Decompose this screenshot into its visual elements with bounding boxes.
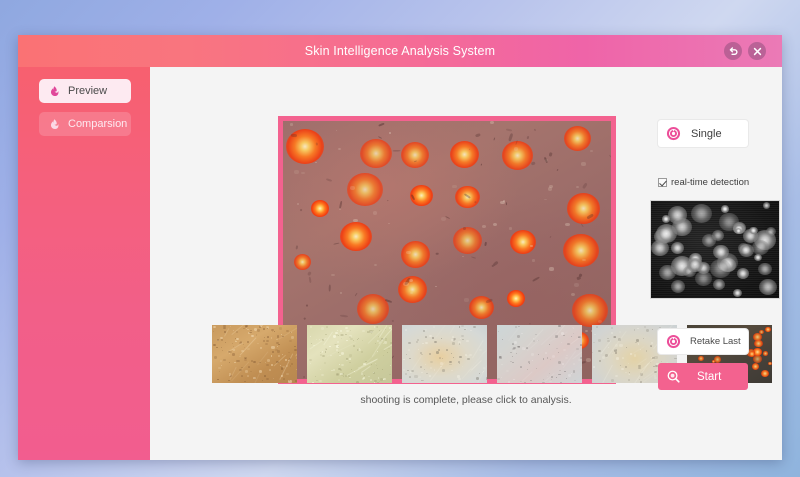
- realtime-detection-label: real-time detection: [671, 177, 749, 188]
- back-arrow-icon: [728, 46, 739, 57]
- start-label: Start: [697, 371, 721, 383]
- aperture-icon: [666, 334, 681, 349]
- page-title: Skin Intelligence Analysis System: [18, 35, 782, 67]
- thumbnail-3[interactable]: [402, 325, 487, 383]
- magnifier-icon: [666, 369, 681, 384]
- flame-icon: [48, 85, 61, 98]
- thumbnail-4[interactable]: [497, 325, 582, 383]
- right-control-panel: Single real-time detection: [650, 67, 782, 460]
- realtime-detection-checkbox[interactable]: [658, 178, 667, 187]
- detection-preview-image[interactable]: [650, 200, 780, 299]
- aperture-icon: [666, 126, 681, 141]
- title-bar: Skin Intelligence Analysis System: [18, 35, 782, 67]
- thumbnail-2[interactable]: [307, 325, 392, 383]
- sidebar-item-comparsion[interactable]: Comparsion: [39, 112, 131, 136]
- back-button[interactable]: [724, 42, 742, 60]
- thumbnail-1[interactable]: [212, 325, 297, 383]
- sidebar-item-label: Preview: [68, 85, 107, 97]
- sidebar-item-preview[interactable]: Preview: [39, 79, 131, 103]
- sidebar-item-label: Comparsion: [68, 118, 127, 130]
- retake-last-button[interactable]: Retake Last: [658, 329, 748, 354]
- flame-icon: [48, 118, 61, 131]
- close-button[interactable]: [748, 42, 766, 60]
- main-content-area: shooting is complete, please click to an…: [150, 67, 782, 460]
- sidebar: Preview Comparsion: [18, 67, 150, 460]
- window-body: Preview Comparsion shooting is complete,…: [18, 67, 782, 460]
- start-button[interactable]: Start: [658, 363, 748, 390]
- retake-last-label: Retake Last: [690, 336, 741, 347]
- realtime-detection-toggle[interactable]: real-time detection: [658, 177, 749, 188]
- close-icon: [752, 46, 763, 57]
- application-window: Skin Intelligence Analysis System: [18, 35, 782, 460]
- capture-mode-label: Single: [691, 128, 722, 140]
- capture-mode-button[interactable]: Single: [658, 120, 748, 147]
